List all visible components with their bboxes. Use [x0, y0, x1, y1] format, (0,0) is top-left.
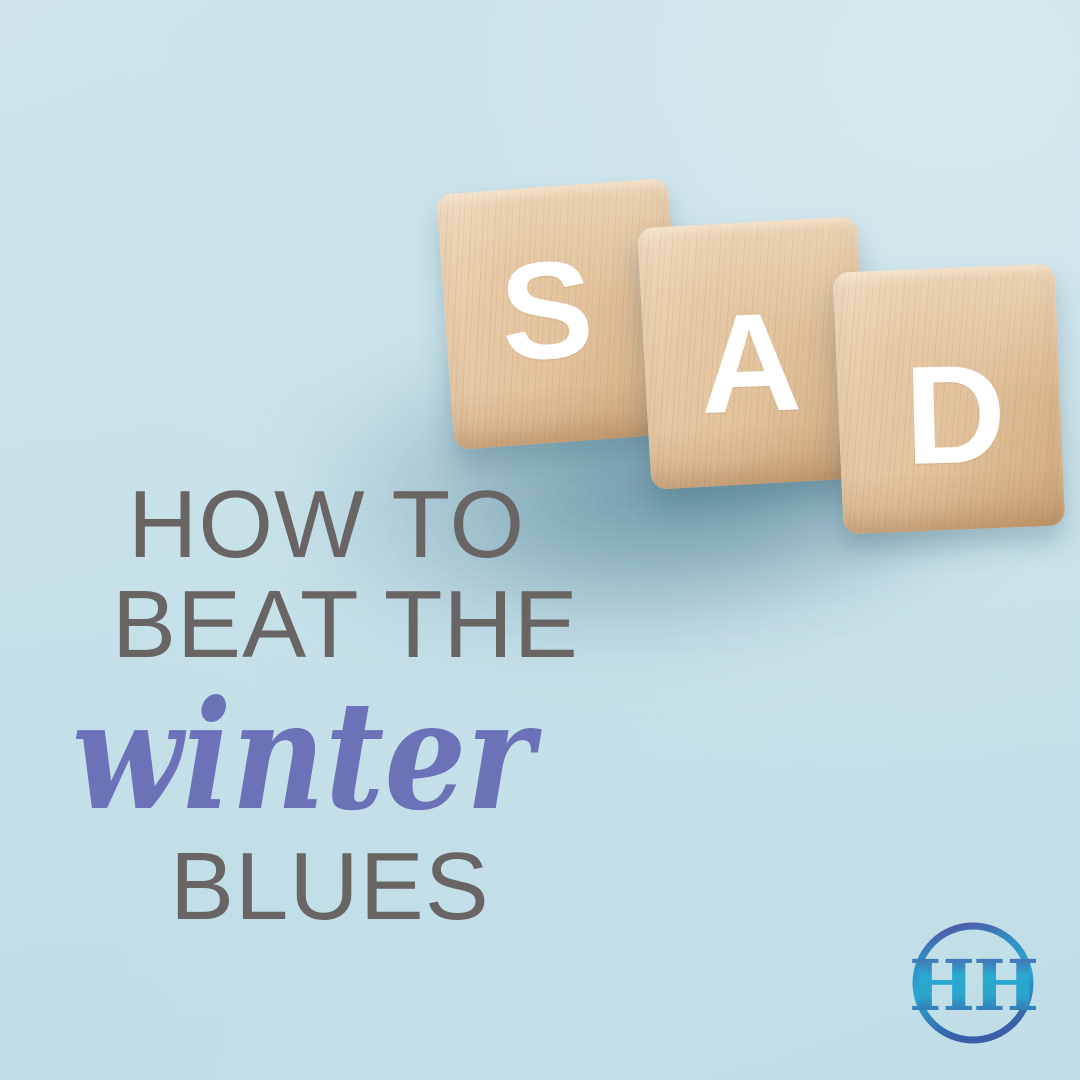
logo-monogram-text: HH: [909, 944, 1037, 1027]
hh-monogram-logo: HH: [906, 916, 1040, 1050]
poster-canvas: S A D HOW TO BEAT THE winter BLUES: [0, 0, 1080, 1080]
headline-script-text: winter: [72, 668, 543, 844]
headline-script-winter: winter: [72, 688, 542, 838]
headline-line-kicker: HOW TO: [128, 480, 525, 570]
headline-line-main: BEAT THE: [112, 580, 579, 670]
headline-line-tail: BLUES: [170, 842, 490, 932]
